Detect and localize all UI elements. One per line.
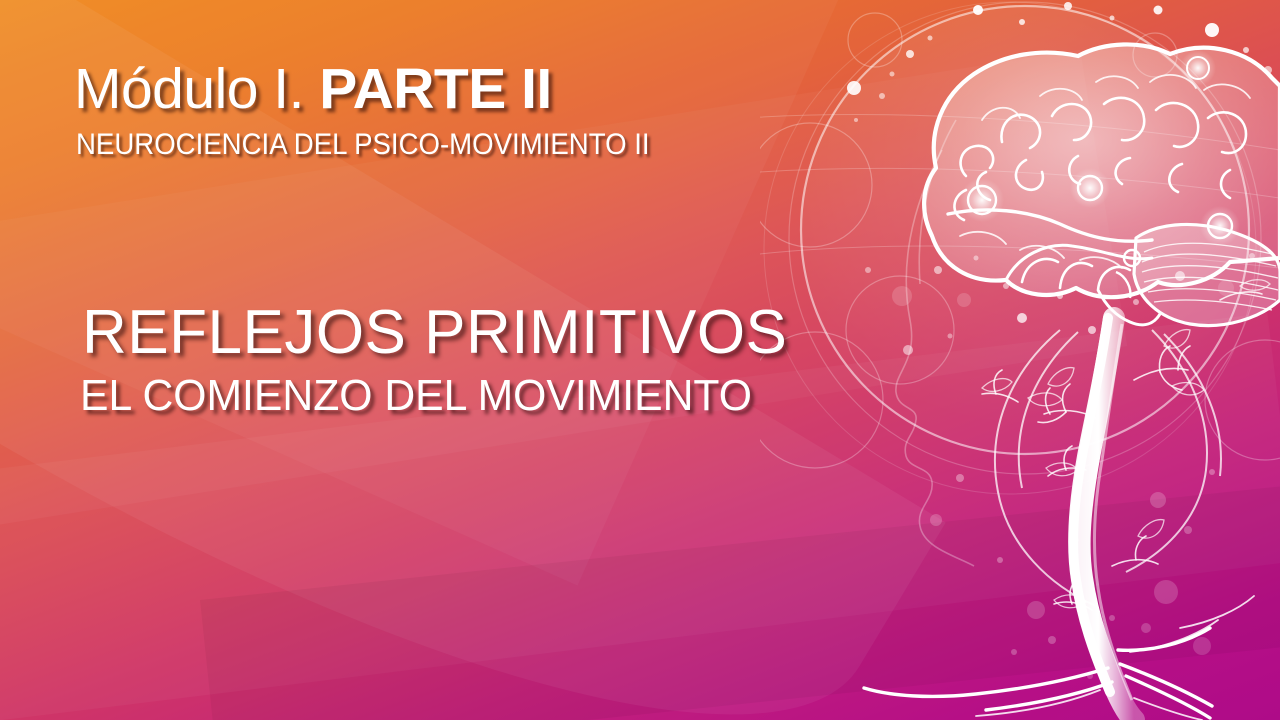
module-subtitle-text: NEUROCIENCIA DEL PSICO-MOVIMIENTO II <box>76 128 650 162</box>
title-text-block: Módulo I. PARTE II NEUROCIENCIA DEL PSIC… <box>0 0 820 720</box>
page-title: REFLEJOS PRIMITIVOS <box>82 297 787 368</box>
brain-tree-artwork <box>760 0 1280 720</box>
slide-canvas: Módulo I. PARTE II NEUROCIENCIA DEL PSIC… <box>0 0 1280 720</box>
module-part-text: PARTE II <box>319 57 551 121</box>
module-prefix-text: Módulo I. <box>74 57 319 121</box>
module-heading: Módulo I. PARTE II <box>74 56 552 122</box>
page-subtitle: EL COMIENZO DEL MOVIMIENTO <box>80 371 752 421</box>
